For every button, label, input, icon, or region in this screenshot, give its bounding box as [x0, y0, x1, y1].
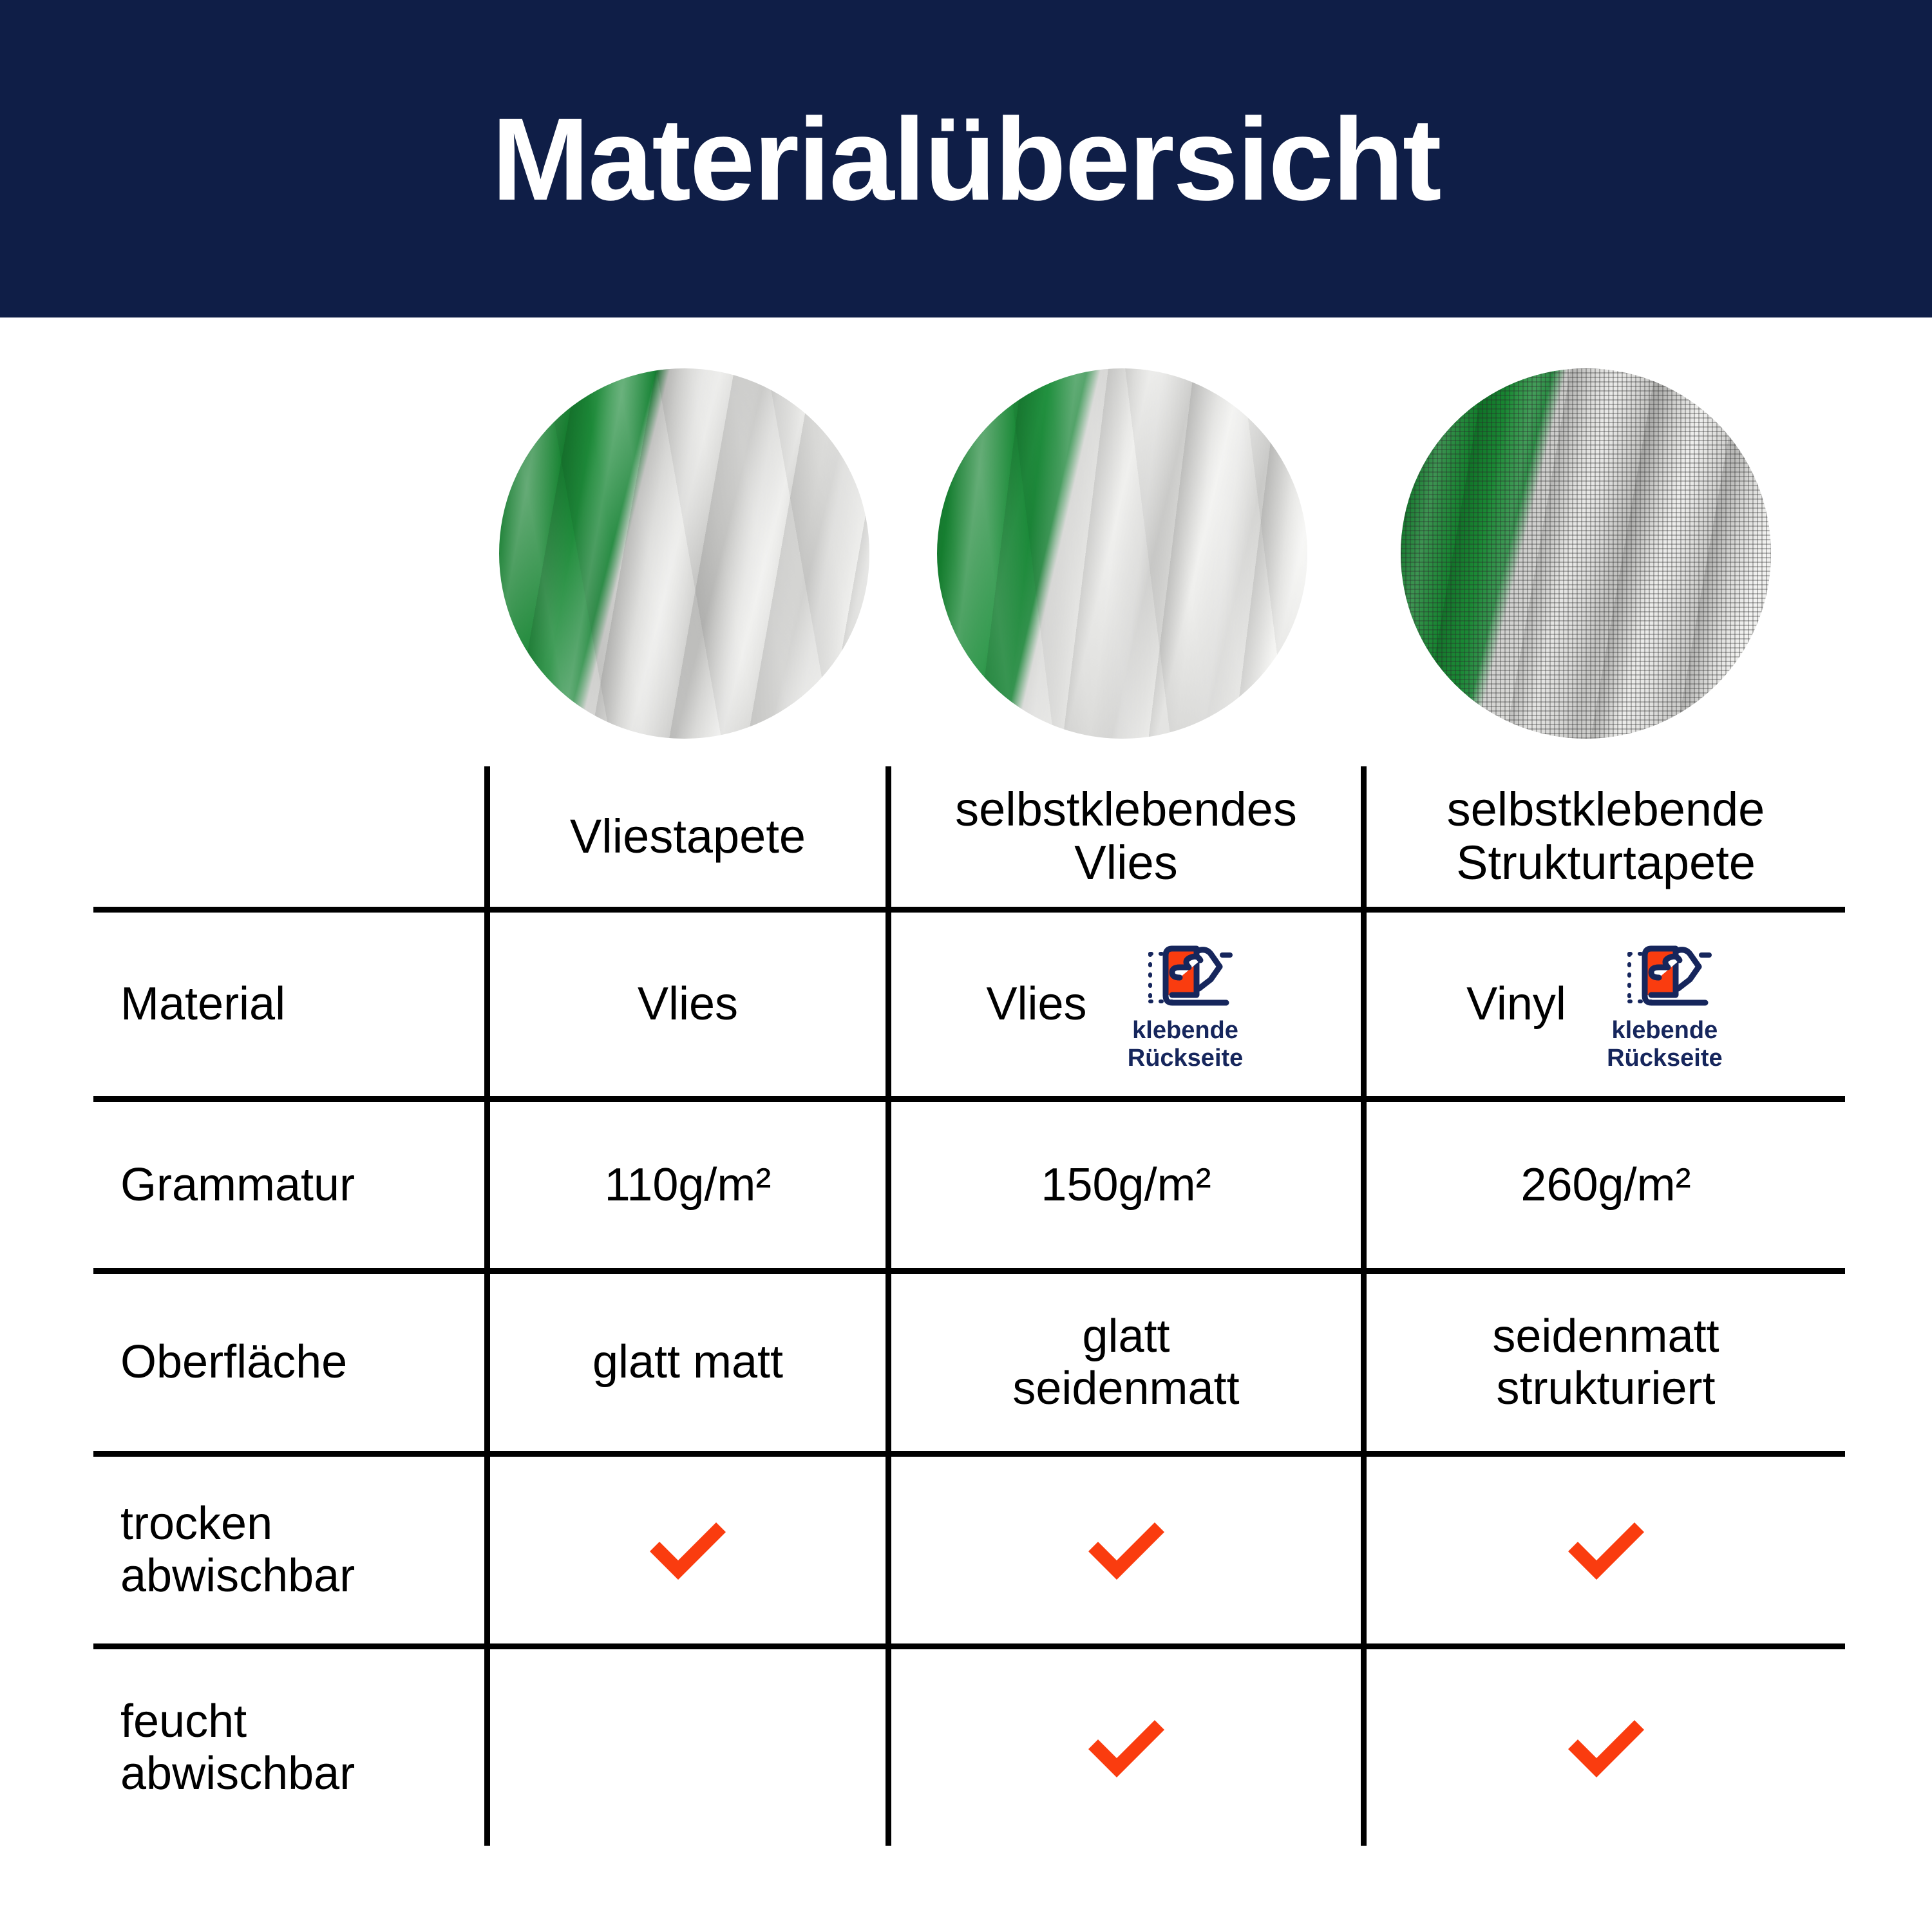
fabric-texture-image	[499, 368, 869, 739]
adhesive-back-badge-label: klebende Rückseite	[1128, 1017, 1244, 1072]
check-icon	[1078, 1511, 1175, 1589]
fabric-texture-image	[1401, 368, 1771, 739]
cell-material-vliestapete: Vlies	[484, 913, 885, 1096]
adhesive-back-badge: klebende Rückseite	[1584, 937, 1745, 1072]
column-header-vliestapete: Vliestapete	[484, 766, 885, 907]
column-header-selbstklebendes-vlies: selbstklebendes Vlies	[885, 766, 1361, 907]
cell-material-selbstklebendes-vlies: Vlies	[885, 913, 1361, 1096]
cell-oberflaeche-selbstklebendes-vlies: glatt seidenmatt	[885, 1274, 1361, 1451]
check-icon	[1558, 1511, 1654, 1589]
table-row: Grammatur 110g/m² 150g/m² 260g/m²	[93, 1096, 1845, 1268]
column-header-label: Vliestapete	[570, 810, 806, 864]
check-icon	[639, 1511, 736, 1589]
swatch-vliestapete	[499, 368, 869, 739]
cell-trocken-selbstklebendes-vlies	[885, 1457, 1361, 1643]
page-title: Materialübersicht	[491, 100, 1440, 218]
swatch-selbstklebendes-vlies	[937, 368, 1307, 739]
cell-trocken-selbstklebende-strukturtapete	[1361, 1457, 1845, 1643]
page-header-banner: Materialübersicht	[0, 0, 1932, 317]
check-icon	[1558, 1709, 1654, 1786]
cell-trocken-vliestapete	[484, 1457, 885, 1643]
cell-oberflaeche-vliestapete: glatt matt	[484, 1274, 885, 1451]
material-comparison-table: Vliestapete selbstklebendes Vlies selbst…	[93, 766, 1845, 1846]
cell-feucht-vliestapete	[484, 1649, 885, 1846]
cell-oberflaeche-selbstklebende-strukturtapete: seidenmatt strukturiert	[1361, 1274, 1845, 1451]
check-icon	[1078, 1709, 1175, 1786]
table-row: trocken abwischbar	[93, 1451, 1845, 1643]
row-label-grammatur: Grammatur	[93, 1102, 484, 1268]
adhesive-back-badge: klebende Rückseite	[1105, 937, 1266, 1072]
peel-sticker-icon	[1137, 937, 1234, 1013]
table-corner-cell	[93, 766, 484, 907]
cell-feucht-selbstklebendes-vlies	[885, 1649, 1361, 1846]
cell-value: Vlies	[638, 978, 738, 1030]
cell-grammatur-selbstklebende-strukturtapete: 260g/m²	[1361, 1102, 1845, 1268]
row-label-feucht-abwischbar: feucht abwischbar	[93, 1649, 484, 1846]
cell-value: Vinyl	[1466, 978, 1566, 1030]
table-row: feucht abwischbar	[93, 1643, 1845, 1846]
column-header-label: selbstklebende Strukturtapete	[1376, 783, 1836, 890]
row-label-oberflaeche: Oberfläche	[93, 1274, 484, 1451]
fabric-texture-image	[937, 368, 1307, 739]
cell-material-selbstklebende-strukturtapete: Vinyl	[1361, 913, 1845, 1096]
column-header-label: selbstklebendes Vlies	[900, 783, 1352, 890]
table-row: Oberfläche glatt matt glatt seidenmatt s…	[93, 1268, 1845, 1451]
cell-grammatur-selbstklebendes-vlies: 150g/m²	[885, 1102, 1361, 1268]
material-swatch-row	[0, 361, 1932, 747]
peel-sticker-icon	[1616, 937, 1713, 1013]
row-label-trocken-abwischbar: trocken abwischbar	[93, 1457, 484, 1643]
cell-feucht-selbstklebende-strukturtapete	[1361, 1649, 1845, 1846]
row-label-material: Material	[93, 913, 484, 1096]
swatch-selbstklebende-strukturtapete	[1401, 368, 1771, 739]
cell-value: Vlies	[986, 978, 1086, 1030]
cell-grammatur-vliestapete: 110g/m²	[484, 1102, 885, 1268]
adhesive-back-badge-label: klebende Rückseite	[1607, 1017, 1723, 1072]
column-header-selbstklebende-strukturtapete: selbstklebende Strukturtapete	[1361, 766, 1845, 907]
table-row: Material Vlies Vlies	[93, 907, 1845, 1096]
table-header-row: Vliestapete selbstklebendes Vlies selbst…	[93, 766, 1845, 907]
